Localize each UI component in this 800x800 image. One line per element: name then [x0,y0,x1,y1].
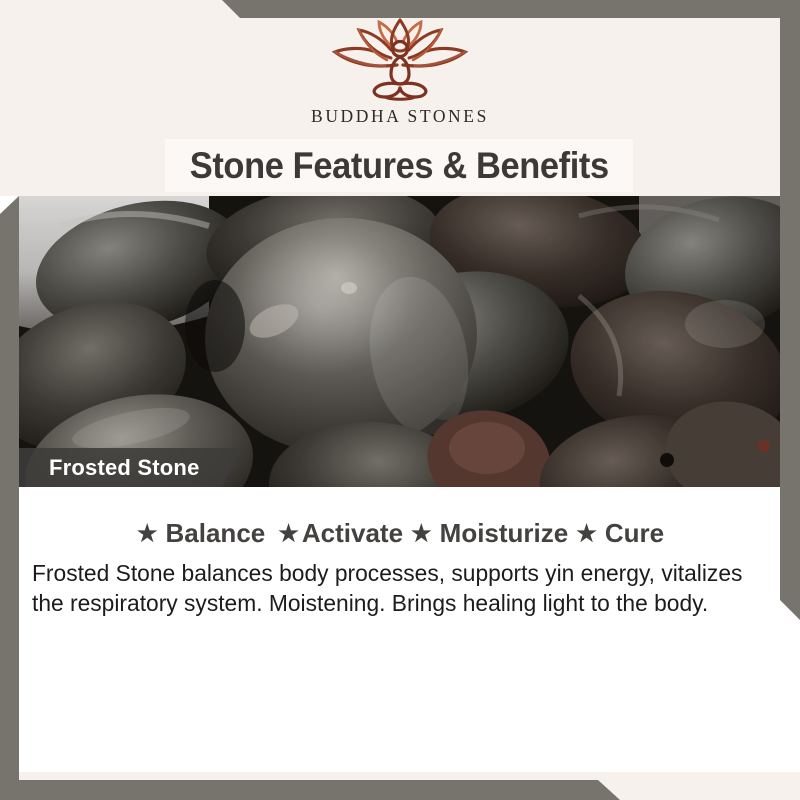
benefits-list: ★Balance★Activate★Moisturize★Cure [19,518,782,549]
benefit-item-cure: Cure [605,518,664,548]
benefit-item-balance: Balance [166,518,266,548]
product-info-card: BUDDHA STONES Stone Features & Benefits [0,0,800,800]
brand-logo: BUDDHA STONES [0,18,800,144]
brand-name: BUDDHA STONES [311,106,489,127]
benefit-item-activate: Activate [302,518,403,548]
star-icon: ★ [576,520,597,546]
title-banner: Stone Features & Benefits [165,139,633,192]
stone-photo-illustration [19,196,782,487]
cream-background-bottom [19,772,800,800]
page-title: Stone Features & Benefits [189,145,608,187]
benefit-item-moisturize: Moisturize [440,518,569,548]
star-icon: ★ [137,520,158,546]
stone-photo [19,196,782,487]
lotus-meditation-figure-icon [315,18,485,104]
star-icon: ★ [278,520,299,546]
photo-caption-bar: Frosted Stone [19,448,239,487]
star-icon: ★ [411,520,432,546]
photo-caption-text: Frosted Stone [49,455,200,481]
description-text: Frosted Stone balances body processes, s… [32,558,750,618]
